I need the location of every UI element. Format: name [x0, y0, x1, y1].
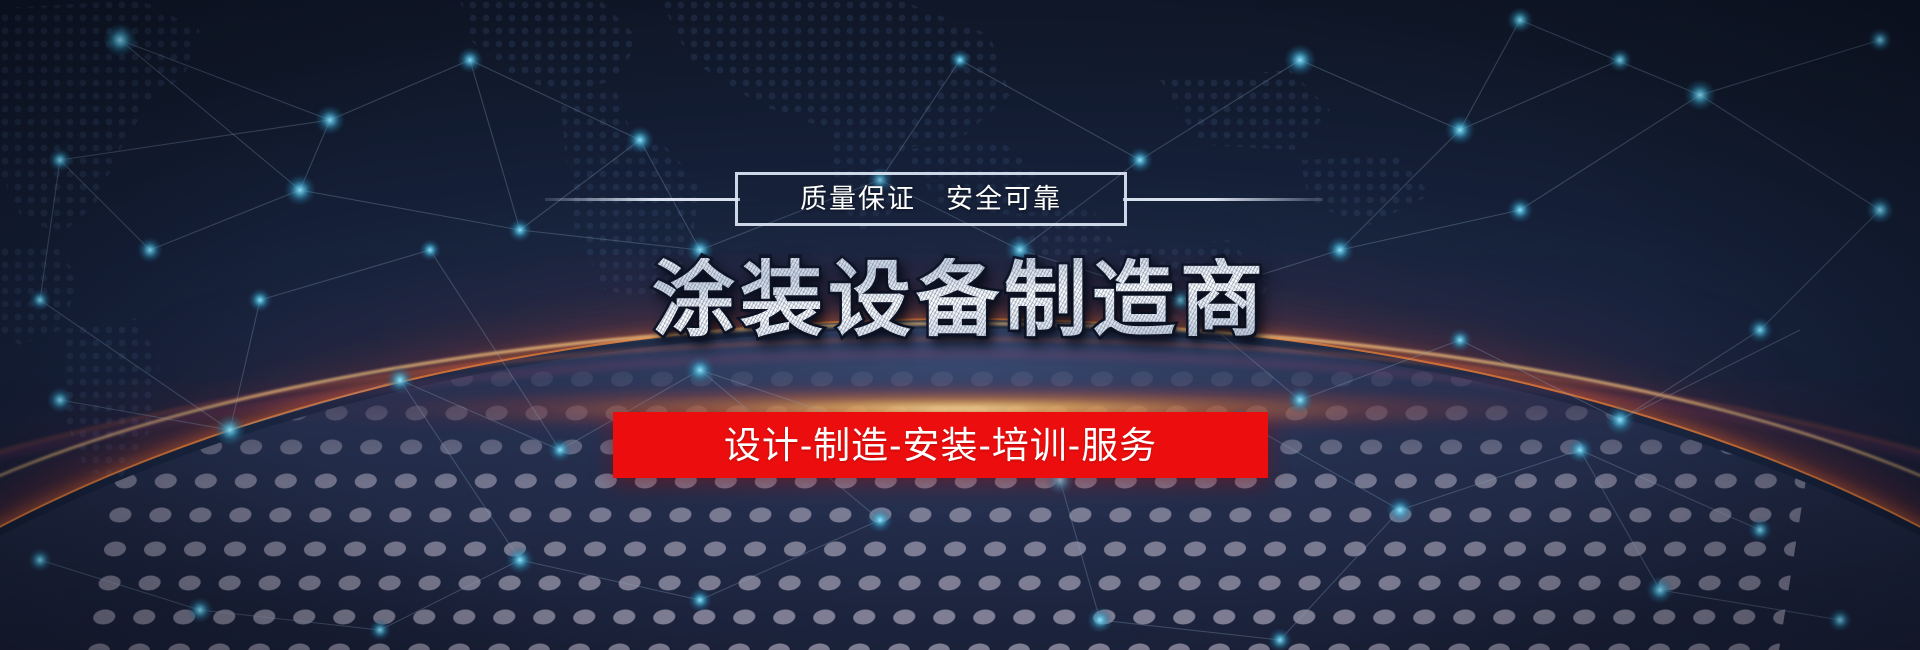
- tagline-item-quality: 质量保证: [800, 186, 916, 213]
- hero-banner: 质量保证 安全可靠 涂装设备制造商 涂装设备制造商 设计-制造-安装-培训-服务: [0, 0, 1920, 650]
- banner-content: 质量保证 安全可靠 涂装设备制造商 涂装设备制造商 设计-制造-安装-培训-服务: [0, 0, 1920, 650]
- tagline-row: 质量保证 安全可靠: [0, 172, 1920, 228]
- service-chain-bar[interactable]: 设计-制造-安装-培训-服务: [613, 412, 1268, 478]
- page-headline: 涂装设备制造商: [0, 258, 1920, 341]
- service-chain-label: 设计-制造-安装-培训-服务: [724, 427, 1157, 464]
- tagline-box: 质量保证 安全可靠: [735, 172, 1127, 226]
- tagline-item-safety: 安全可靠: [946, 186, 1062, 213]
- tagline-rule-right: [1123, 198, 1323, 201]
- tagline-rule-left: [545, 198, 740, 201]
